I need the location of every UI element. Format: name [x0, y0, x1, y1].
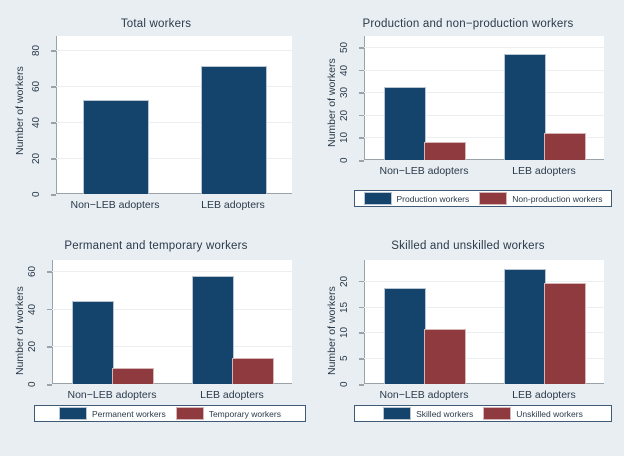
y-axis-label: Number of workers	[14, 56, 26, 166]
y-axis-tick-label: 5	[339, 348, 353, 368]
y-axis-tick-label: 60	[31, 76, 45, 96]
y-axis-tick	[359, 281, 364, 283]
y-axis-tick-label: 0	[27, 374, 41, 394]
y-axis-label: Number of workers	[326, 48, 338, 158]
plot-area: 01020304050Non−LEB adoptersLEB adopters	[364, 36, 604, 160]
legend: Permanent workersTemporary workers	[34, 405, 306, 422]
legend: Skilled workersUnskilled workers	[354, 405, 612, 422]
legend-swatch	[176, 407, 204, 420]
bar	[232, 358, 274, 384]
y-gridline	[364, 281, 604, 282]
y-axis-tick	[51, 158, 56, 160]
y-axis-tick	[47, 271, 52, 273]
y-axis-tick	[359, 115, 364, 117]
bar	[544, 283, 586, 384]
bar	[544, 133, 586, 160]
bar	[424, 329, 466, 384]
y-axis-tick-label: 0	[339, 150, 353, 170]
legend-item: Non-production workers	[479, 192, 602, 205]
y-axis-tick	[51, 50, 56, 52]
y-gridline	[364, 70, 604, 71]
bar	[83, 100, 150, 194]
y-axis-tick-label: 40	[339, 60, 353, 80]
y-axis-tick	[359, 47, 364, 49]
x-axis-tick-label: Non−LEB adopters	[56, 199, 174, 211]
plot-area: 020406080Non−LEB adoptersLEB adopters	[56, 36, 292, 194]
y-axis-tick-label: 20	[27, 336, 41, 356]
legend-swatch	[479, 192, 507, 205]
y-axis-tick-label: 30	[339, 82, 353, 102]
legend-label: Unskilled workers	[516, 409, 583, 419]
y-axis-tick-label: 50	[339, 37, 353, 57]
y-axis-tick-label: 10	[339, 322, 353, 342]
panel-title: Total workers	[0, 18, 312, 30]
y-axis-tick	[359, 384, 364, 386]
legend-item: Production workers	[364, 192, 470, 205]
y-axis-label: Number of workers	[14, 276, 26, 386]
legend-swatch	[59, 407, 87, 420]
bar	[504, 269, 546, 384]
y-axis-tick	[359, 332, 364, 334]
y-axis-tick	[47, 384, 52, 386]
y-axis-tick-label: 0	[31, 184, 45, 204]
y-axis-tick	[359, 307, 364, 309]
legend-item: Unskilled workers	[483, 407, 583, 420]
y-axis-tick-label: 40	[27, 299, 41, 319]
figure-grid: Total workers Number of workers 02040608…	[0, 0, 624, 456]
legend: Production workersNon-production workers	[354, 190, 612, 207]
y-axis-tick-label: 80	[31, 40, 45, 60]
y-axis-tick-label: 40	[31, 112, 45, 132]
bar	[72, 301, 114, 384]
y-axis-label: Number of workers	[326, 276, 338, 386]
y-axis-tick	[47, 309, 52, 311]
panel-title: Permanent and temporary workers	[0, 240, 312, 252]
y-axis-tick	[359, 160, 364, 162]
y-axis-tick	[359, 92, 364, 94]
y-axis-tick	[51, 194, 56, 196]
bar	[112, 368, 154, 384]
y-axis-tick	[359, 70, 364, 72]
x-axis-tick-label: Non−LEB adopters	[364, 165, 484, 177]
y-axis-tick-label: 10	[339, 127, 353, 147]
bar	[384, 87, 426, 160]
panel-title: Skilled and unskilled workers	[312, 240, 624, 252]
legend-label: Temporary workers	[209, 409, 281, 419]
legend-item: Temporary workers	[176, 407, 281, 420]
panel-total-workers: Total workers Number of workers 02040608…	[0, 0, 312, 228]
legend-label: Permanent workers	[92, 409, 166, 419]
x-axis-tick-label: LEB adopters	[172, 389, 292, 401]
legend-label: Skilled workers	[416, 409, 473, 419]
legend-label: Non-production workers	[512, 194, 602, 204]
y-gridline	[364, 47, 604, 48]
legend-label: Production workers	[397, 194, 470, 204]
y-axis-tick-label: 60	[27, 261, 41, 281]
panel-skilled-workers: Skilled and unskilled workers Number of …	[312, 228, 624, 456]
x-axis-tick-label: LEB adopters	[174, 199, 292, 211]
bar	[201, 66, 268, 194]
bar	[504, 54, 546, 160]
y-axis-tick-label: 20	[339, 271, 353, 291]
plot-area: 05101520Non−LEB adoptersLEB adopters	[364, 260, 604, 384]
y-axis-tick	[51, 122, 56, 124]
panel-production-workers: Production and non−production workers Nu…	[312, 0, 624, 228]
y-gridline	[56, 50, 292, 51]
legend-swatch	[383, 407, 411, 420]
bar	[384, 288, 426, 384]
y-axis-tick-label: 20	[31, 148, 45, 168]
plot-area: 0204060Non−LEB adoptersLEB adopters	[52, 260, 292, 384]
x-axis-tick-label: Non−LEB adopters	[364, 389, 484, 401]
bar	[192, 276, 234, 384]
y-axis-tick	[51, 86, 56, 88]
panel-permanent-workers: Permanent and temporary workers Number o…	[0, 228, 312, 456]
y-axis-tick-label: 15	[339, 297, 353, 317]
bar	[424, 142, 466, 160]
x-axis-tick-label: Non−LEB adopters	[52, 389, 172, 401]
x-axis-tick-label: LEB adopters	[484, 165, 604, 177]
legend-swatch	[483, 407, 511, 420]
y-axis-tick	[359, 358, 364, 360]
legend-item: Permanent workers	[59, 407, 166, 420]
panel-title: Production and non−production workers	[312, 18, 624, 30]
y-axis-tick-label: 0	[339, 374, 353, 394]
x-axis-tick-label: LEB adopters	[484, 389, 604, 401]
legend-swatch	[364, 192, 392, 205]
legend-item: Skilled workers	[383, 407, 473, 420]
y-gridline	[52, 271, 292, 272]
y-axis-tick-label: 20	[339, 105, 353, 125]
y-axis-tick	[359, 137, 364, 139]
y-axis-tick	[47, 346, 52, 348]
